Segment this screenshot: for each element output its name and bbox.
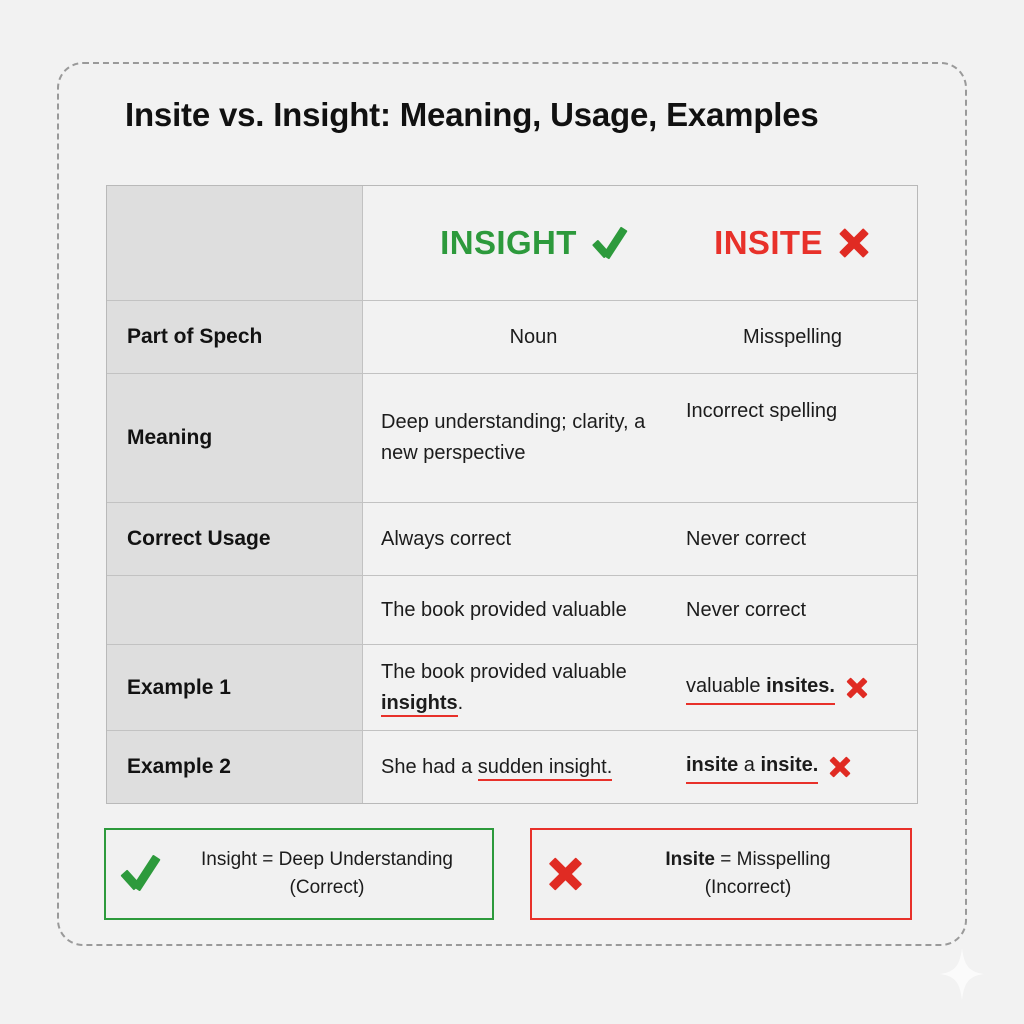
legend-correct-note: (Correct) <box>290 877 365 898</box>
row-label-correct-usage: Correct Usage <box>107 503 363 575</box>
cell-insite-example-1: valuable insites. <box>686 671 899 705</box>
row-label-blank <box>107 576 363 644</box>
cell-insight-example-1: The book provided valuable insights. <box>381 657 686 719</box>
cell-insite-correct-usage: Never correct <box>686 524 899 555</box>
table-row: The book provided valuable Never correct <box>107 576 917 645</box>
table-row: Part of Spech Noun Misspelling <box>107 301 917 374</box>
cross-icon <box>546 855 584 893</box>
row-content-correct-usage: Always correct Never correct <box>363 503 917 575</box>
cell-insight-meaning: Deep understanding; clarity, a new persp… <box>381 407 686 469</box>
cell-insight-blank: The book provided valuable <box>381 595 686 626</box>
legend-correct-rest: = Deep Understanding <box>257 849 453 870</box>
cell-insite-meaning: Incorrect spelling <box>686 374 899 427</box>
cross-icon <box>837 226 871 260</box>
example-1-insite-plain: valuable <box>686 675 766 697</box>
example-2-insite-bold-2: insite. <box>761 754 819 776</box>
row-content-meaning: Deep understanding; clarity, a new persp… <box>363 374 917 502</box>
check-icon <box>591 225 627 261</box>
table-row: Correct Usage Always correct Never corre… <box>107 503 917 576</box>
example-1-insight-tail: . <box>458 692 464 714</box>
example-1-insite-bold: insites. <box>766 675 835 697</box>
row-content-part-of-speech: Noun Misspelling <box>363 301 917 373</box>
row-label-example-1: Example 1 <box>107 645 363 730</box>
table-row: Example 1 The book provided valuable ins… <box>107 645 917 731</box>
row-label-example-2: Example 2 <box>107 731 363 803</box>
row-content-example-2: She had a sudden insight. insite a insit… <box>363 731 917 803</box>
legend-incorrect-word: Insite <box>665 849 715 870</box>
example-2-insite-marked: insite a insite. <box>686 750 818 784</box>
cell-insight-example-2: She had a sudden insight. <box>381 752 686 783</box>
example-2-insite-bold-1: insite <box>686 754 738 776</box>
cell-insite-blank: Never correct <box>686 595 899 626</box>
row-content-blank: The book provided valuable Never correct <box>363 576 917 644</box>
table-row: Example 2 She had a sudden insight. insi… <box>107 731 917 803</box>
table-header-row: INSIGHT INSITE <box>107 186 917 301</box>
header-insight-column: INSIGHT <box>381 217 686 268</box>
header-label-cell <box>107 186 363 300</box>
cell-insite-example-2: insite a insite. <box>686 750 899 784</box>
header-insite-column: INSITE <box>686 217 899 268</box>
header-insite-word: INSITE <box>714 217 823 268</box>
table-row: Meaning Deep understanding; clarity, a n… <box>107 374 917 503</box>
cell-insite-part-of-speech: Misspelling <box>686 322 899 353</box>
row-label-meaning: Meaning <box>107 374 363 502</box>
check-icon <box>120 854 160 894</box>
header-content-cell: INSIGHT INSITE <box>363 186 917 300</box>
cross-icon <box>828 755 852 779</box>
example-1-insight-marked: insights <box>381 692 458 717</box>
cell-insight-correct-usage: Always correct <box>381 524 686 555</box>
example-2-insite-plain: a <box>738 754 760 776</box>
comparison-table: INSIGHT INSITE Part of Spech Noun Misspe… <box>106 185 918 804</box>
cross-icon <box>845 676 869 700</box>
example-2-insight-marked: sudden insight. <box>478 756 613 781</box>
legend-incorrect-text: Insite = Misspelling (Incorrect) <box>600 846 896 901</box>
legend-correct-word: Insight <box>201 849 257 870</box>
example-1-insight-plain: The book provided valuable <box>381 661 627 683</box>
legend-correct-text: Insight = Deep Understanding (Correct) <box>176 846 478 901</box>
header-insight-word: INSIGHT <box>440 217 577 268</box>
example-2-insight-plain: She had a <box>381 756 478 778</box>
example-1-insite-marked: valuable insites. <box>686 671 835 705</box>
legend-incorrect: Insite = Misspelling (Incorrect) <box>530 828 912 920</box>
legend-incorrect-note: (Incorrect) <box>705 877 792 898</box>
row-label-part-of-speech: Part of Spech <box>107 301 363 373</box>
row-content-example-1: The book provided valuable insights. val… <box>363 645 917 730</box>
cell-insight-part-of-speech: Noun <box>381 322 686 353</box>
page-title: Insite vs. Insight: Meaning, Usage, Exam… <box>125 96 915 134</box>
sparkle-icon <box>940 948 984 1000</box>
legend-correct: Insight = Deep Understanding (Correct) <box>104 828 494 920</box>
legend-incorrect-rest: = Misspelling <box>715 849 831 870</box>
